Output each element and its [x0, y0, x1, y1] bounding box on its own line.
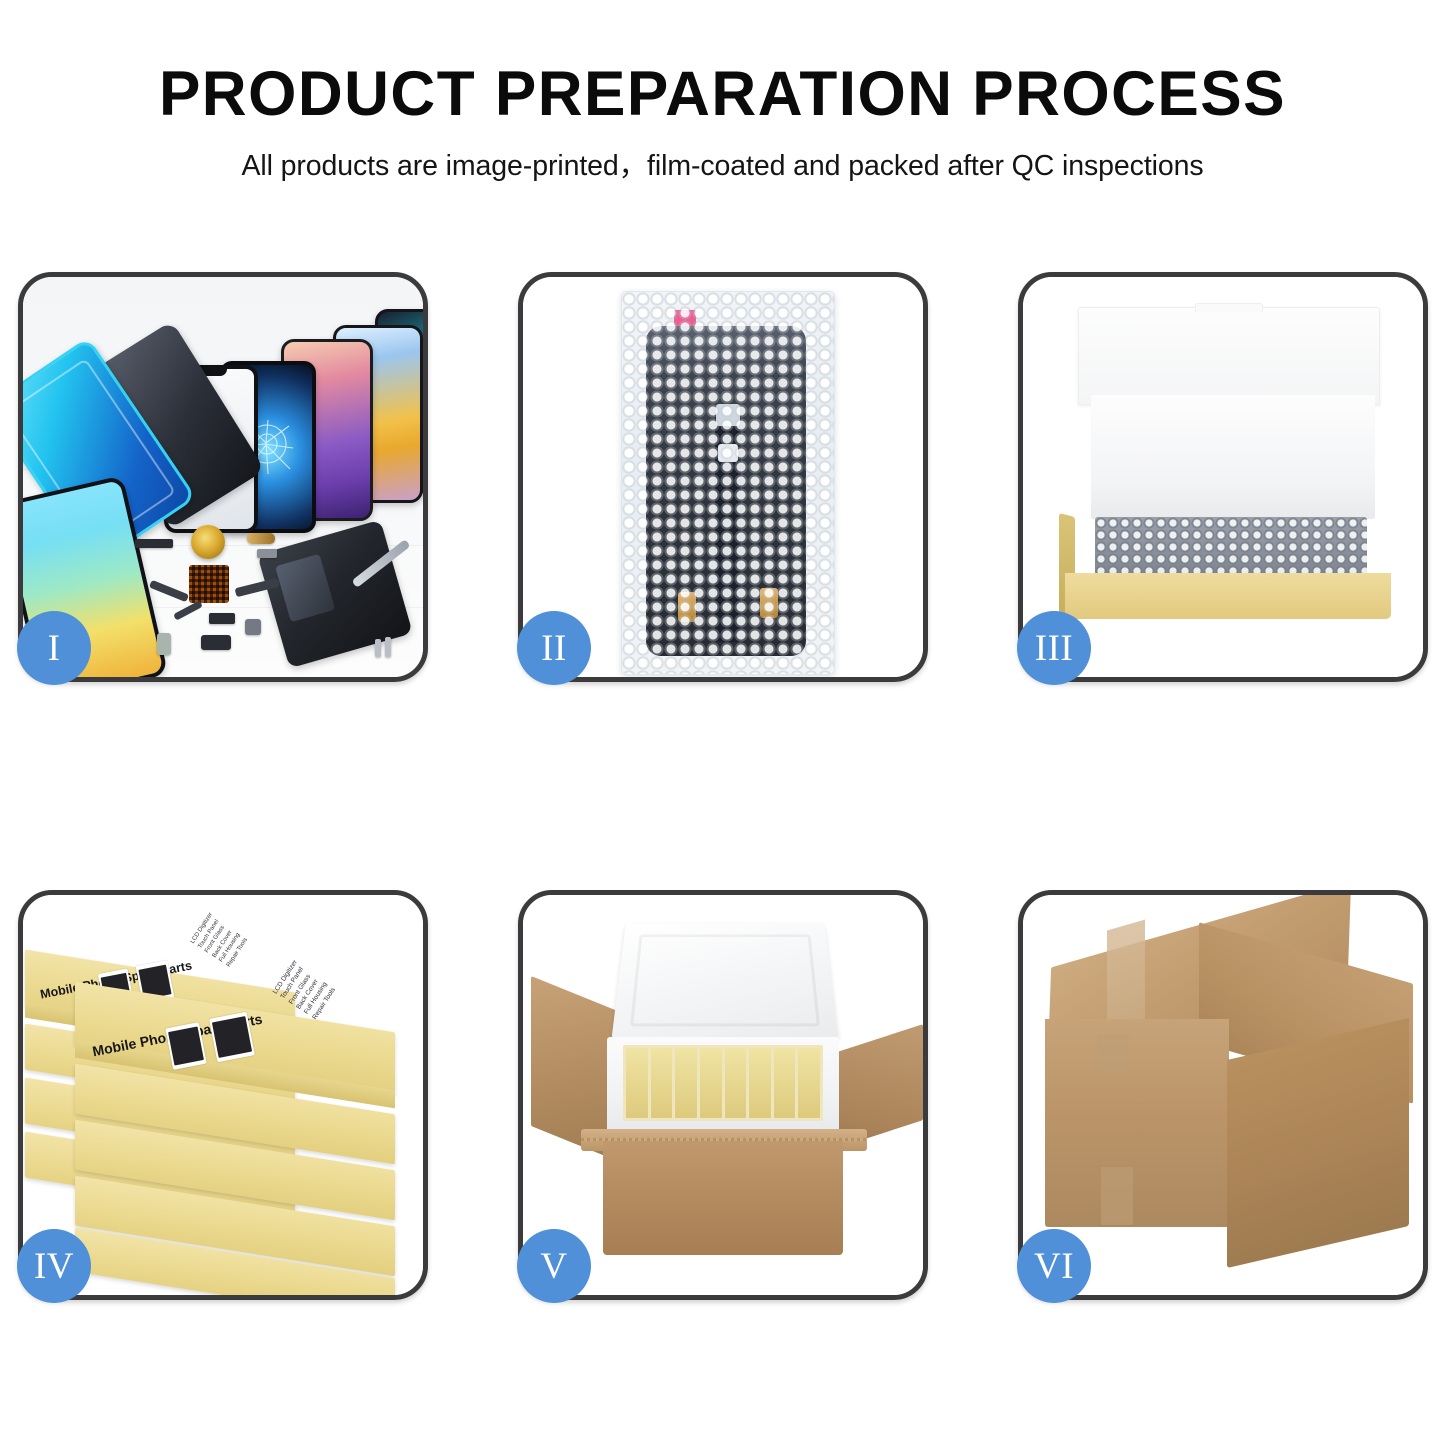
flex-connector-top	[716, 404, 740, 426]
flex-cable-part-2	[257, 549, 277, 558]
process-step-card-1[interactable]: I	[18, 272, 428, 682]
step-badge-6: VI	[1017, 1229, 1091, 1303]
bubble-bag	[621, 291, 835, 675]
carton-front-panel	[1045, 1019, 1229, 1227]
flex-ribbon-1	[149, 580, 189, 602]
step-badge-3: III	[1017, 611, 1091, 685]
page-title: PRODUCT PREPARATION PROCESS	[11, 62, 1434, 126]
screw-part-2	[385, 637, 391, 657]
flex-ribbon-2	[173, 600, 203, 620]
grey-bubble-wrap	[1095, 517, 1367, 575]
ic-chip-2	[201, 635, 231, 650]
gold-boxes-inside	[623, 1045, 823, 1121]
step-badge-5: V	[517, 1229, 591, 1303]
foam-case-lid	[611, 923, 838, 1040]
page-header: PRODUCT PREPARATION PROCESS All products…	[0, 0, 1445, 184]
bubble-wrapped-screen-image	[523, 277, 923, 677]
retail-box-checklist-back: LCD Digitizer Touch Panel Front Glass Ba…	[189, 911, 251, 968]
open-box-bubble-wrap-image	[1023, 277, 1423, 677]
process-step-grid: I II	[18, 272, 1430, 1300]
carton-with-foam-case-image	[523, 895, 923, 1295]
sealed-shipping-carton-image	[1023, 895, 1423, 1295]
page-subtitle: All products are image-printed，film-coat…	[0, 143, 1445, 184]
camera-module-part	[245, 619, 261, 635]
sim-tray-part	[157, 633, 171, 655]
flex-connector-mid	[718, 444, 738, 462]
flex-cable-part-1	[247, 533, 275, 544]
step-badge-1: I	[17, 611, 91, 685]
carton-side-panel	[1227, 1018, 1409, 1268]
process-step-card-3[interactable]: III	[1018, 272, 1428, 682]
step-badge-2: II	[517, 611, 591, 685]
process-step-card-4[interactable]: Mobile Phone Spare Parts LCD Digitizer T…	[18, 890, 428, 1300]
infographic-page: PRODUCT PREPARATION PROCESS All products…	[0, 0, 1445, 1445]
gold-contact-right	[760, 588, 778, 618]
foam-liner	[1091, 395, 1375, 519]
carton-tape-upper	[1097, 1035, 1129, 1071]
process-step-card-2[interactable]: II	[518, 272, 928, 682]
carton-tape-lower	[1101, 1167, 1133, 1225]
pink-tape-marker	[674, 310, 696, 326]
stacked-retail-boxes-image: Mobile Phone Spare Parts LCD Digitizer T…	[23, 895, 423, 1295]
gold-contact-left	[678, 592, 696, 622]
mesh-chip-part	[189, 565, 229, 603]
screw-part-1	[375, 639, 381, 657]
box-lid	[1078, 307, 1380, 405]
ic-chip-1	[209, 613, 235, 624]
speaker-coil-part	[191, 525, 225, 559]
step-badge-4: IV	[17, 1229, 91, 1303]
carton-body	[603, 1141, 843, 1255]
process-step-card-6[interactable]: VI	[1018, 890, 1428, 1300]
phone-parts-collage-image	[23, 277, 423, 677]
gold-box-front	[1065, 573, 1391, 619]
earpiece-part	[135, 539, 173, 548]
process-step-card-5[interactable]: V	[518, 890, 928, 1300]
